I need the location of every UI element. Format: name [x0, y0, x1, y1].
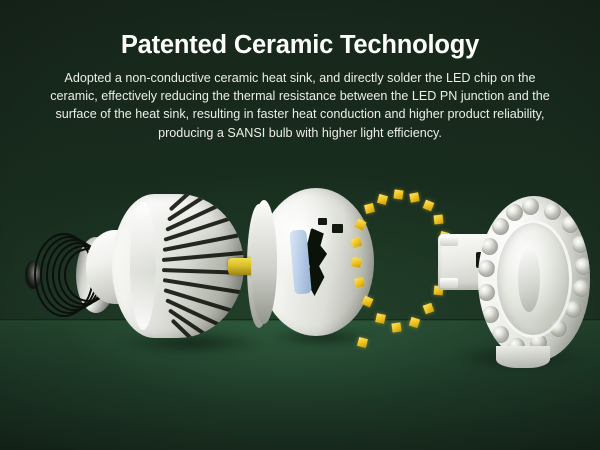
ceramic-heat-sink-part: [86, 192, 266, 340]
led-chip: [409, 317, 420, 328]
led-chip: [393, 189, 403, 199]
led-chip: [354, 277, 365, 288]
led-chip: [423, 200, 435, 212]
led-chip: [377, 194, 388, 205]
lens-dome: [478, 196, 590, 362]
led-chip: [362, 296, 374, 308]
led-chip-ring: [352, 192, 452, 360]
led-chip: [351, 257, 361, 267]
bracket-notch: [440, 236, 458, 246]
led-chip: [364, 203, 375, 214]
ceramic-disc-lip: [251, 200, 277, 324]
led-chip: [409, 192, 419, 202]
lens-core: [518, 246, 540, 312]
led-chip: [351, 237, 362, 248]
bracket-notch: [440, 278, 458, 288]
text-block: Patented Ceramic Technology Adopted a no…: [0, 0, 600, 142]
product-feature-banner: Patented Ceramic Technology Adopted a no…: [0, 0, 600, 450]
led-chip: [423, 303, 435, 315]
page-body: Adopted a non-conductive ceramic heat si…: [50, 69, 550, 142]
led-chip: [354, 218, 366, 230]
smd-component: [332, 224, 343, 233]
led-chip: [375, 313, 386, 324]
heat-sink-collar: [130, 202, 156, 330]
led-chip: [391, 322, 401, 332]
lens-foot: [496, 346, 550, 368]
smd-component: [318, 218, 327, 225]
led-chip: [357, 337, 368, 348]
lens-diffuser-part: [438, 196, 590, 362]
page-title: Patented Ceramic Technology: [0, 31, 600, 60]
